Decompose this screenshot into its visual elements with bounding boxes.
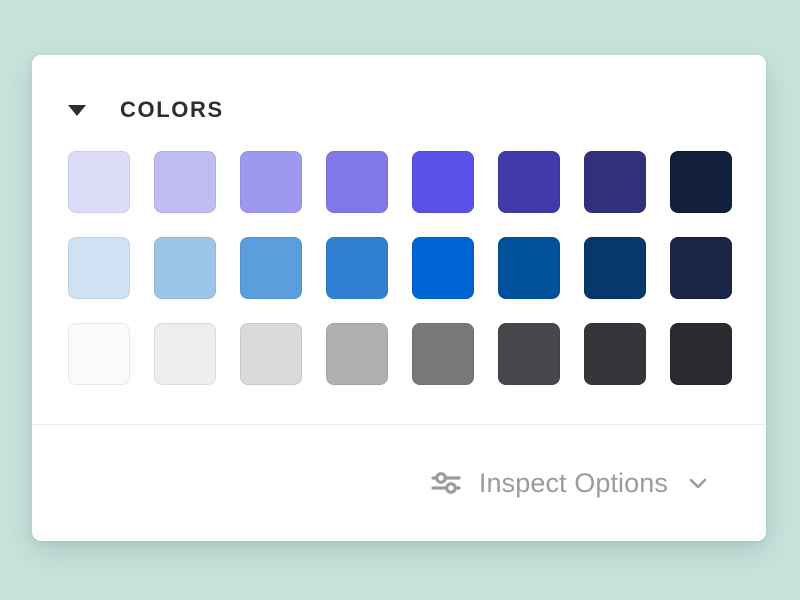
sliders-icon: [431, 470, 461, 496]
swatch-row-blue: [68, 237, 730, 299]
color-swatch-blue-4[interactable]: [326, 237, 388, 299]
color-swatch-indigo-6[interactable]: [498, 151, 560, 213]
panel-footer: Inspect Options: [32, 424, 766, 541]
swatch-row-indigo: [68, 151, 730, 213]
panel-body: COLORS: [32, 55, 766, 424]
color-swatch-gray-4[interactable]: [326, 323, 388, 385]
color-swatch-gray-1[interactable]: [68, 323, 130, 385]
colors-section-header[interactable]: COLORS: [32, 93, 766, 127]
colors-panel: COLORS: [32, 55, 766, 541]
swatch-row-gray: [68, 323, 730, 385]
color-swatch-gray-7[interactable]: [584, 323, 646, 385]
color-swatch-blue-7[interactable]: [584, 237, 646, 299]
color-swatch-indigo-8[interactable]: [670, 151, 732, 213]
color-swatch-blue-1[interactable]: [68, 237, 130, 299]
color-swatch-blue-5[interactable]: [412, 237, 474, 299]
color-swatch-blue-8[interactable]: [670, 237, 732, 299]
chevron-down-icon[interactable]: [686, 471, 710, 495]
color-swatch-grid: [32, 151, 766, 385]
inspect-options-button[interactable]: Inspect Options: [431, 470, 710, 497]
color-swatch-blue-2[interactable]: [154, 237, 216, 299]
color-swatch-indigo-1[interactable]: [68, 151, 130, 213]
color-swatch-gray-2[interactable]: [154, 323, 216, 385]
color-swatch-gray-5[interactable]: [412, 323, 474, 385]
screen: COLORS: [0, 0, 800, 600]
color-swatch-blue-6[interactable]: [498, 237, 560, 299]
color-swatch-gray-8[interactable]: [670, 323, 732, 385]
color-swatch-blue-3[interactable]: [240, 237, 302, 299]
color-swatch-gray-3[interactable]: [240, 323, 302, 385]
color-swatch-indigo-7[interactable]: [584, 151, 646, 213]
inspect-options-label: Inspect Options: [479, 470, 668, 497]
color-swatch-indigo-4[interactable]: [326, 151, 388, 213]
caret-down-icon[interactable]: [68, 105, 86, 116]
page-title: COLORS: [120, 99, 224, 121]
color-swatch-indigo-5[interactable]: [412, 151, 474, 213]
color-swatch-indigo-2[interactable]: [154, 151, 216, 213]
color-swatch-gray-6[interactable]: [498, 323, 560, 385]
color-swatch-indigo-3[interactable]: [240, 151, 302, 213]
